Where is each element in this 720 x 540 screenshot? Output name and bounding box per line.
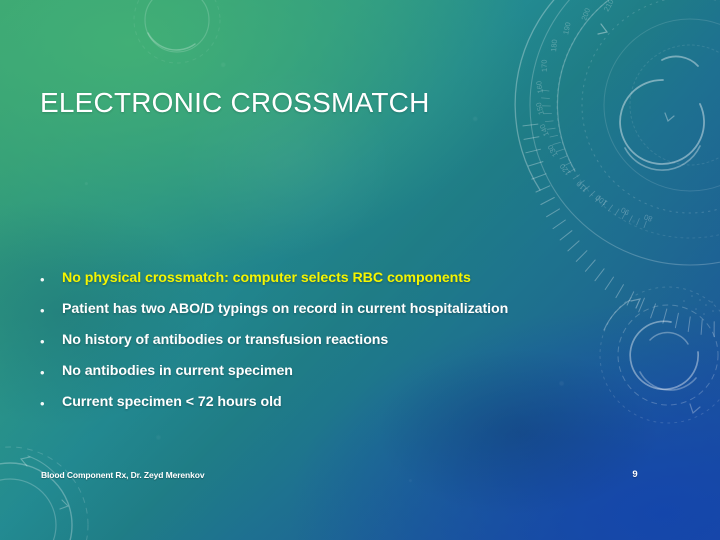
faint-circle-top-left-icon [134, 0, 220, 63]
list-item: • No physical crossmatch: computer selec… [40, 268, 670, 299]
svg-text:110: 110 [575, 179, 590, 194]
bullet-point-icon: • [40, 268, 62, 290]
svg-text:120: 120 [558, 162, 573, 177]
footer-note: Blood Component Rx, Dr. Zeyd Merenkov [41, 470, 205, 480]
bullet-point-icon: • [40, 330, 62, 352]
svg-text:210: 210 [602, 0, 616, 13]
bullet-list: • No physical crossmatch: computer selec… [40, 268, 670, 423]
list-item: • No antibodies in current specimen [40, 361, 670, 392]
bullet-text: Patient has two ABO/D typings on record … [62, 299, 670, 320]
list-item: • Patient has two ABO/D typings on recor… [40, 299, 670, 330]
bullet-point-icon: • [40, 299, 62, 321]
svg-text:80: 80 [643, 212, 654, 223]
svg-text:100: 100 [594, 193, 609, 208]
ring-motif-bottom-left-icon [0, 447, 88, 540]
bullet-point-icon: • [40, 392, 62, 414]
list-item: • No history of antibodies or transfusio… [40, 330, 670, 361]
svg-text:130: 130 [546, 143, 560, 158]
bullet-text: No physical crossmatch: computer selects… [62, 268, 670, 289]
bullet-text: Current specimen < 72 hours old [62, 392, 670, 413]
bullet-text: No history of antibodies or transfusion … [62, 330, 670, 351]
svg-text:140: 140 [538, 123, 551, 138]
svg-text:170: 170 [540, 59, 549, 72]
slide-title: ELECTRONIC CROSSMATCH [40, 86, 660, 120]
presentation-slide: 210 200 190 180 170 160 150 140 130 120 … [0, 0, 720, 540]
svg-text:180: 180 [549, 39, 559, 52]
bullet-point-icon: • [40, 361, 62, 383]
svg-text:190: 190 [561, 21, 572, 35]
bullet-text: No antibodies in current specimen [62, 361, 670, 382]
svg-text:200: 200 [579, 7, 592, 22]
page-number: 9 [622, 469, 648, 480]
list-item: • Current specimen < 72 hours old [40, 392, 670, 423]
svg-text:90: 90 [619, 205, 631, 217]
